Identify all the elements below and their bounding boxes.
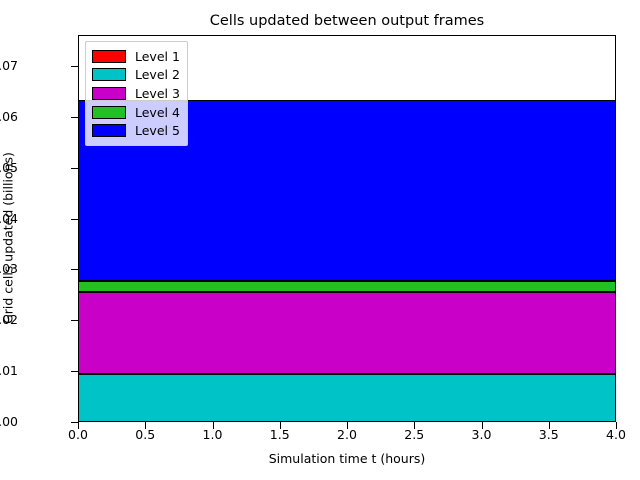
x-tick-mark xyxy=(213,422,214,429)
y-tick-mark xyxy=(71,66,78,67)
x-tick-mark xyxy=(616,422,617,429)
chart-title: Cells updated between output frames xyxy=(78,10,616,32)
legend[interactable]: Level 1Level 2Level 3Level 4Level 5 xyxy=(85,41,188,146)
y-tick-label: 0.04 xyxy=(0,211,18,227)
x-tick-mark xyxy=(145,422,146,429)
legend-item-level-1[interactable]: Level 1 xyxy=(92,47,180,66)
legend-swatch-icon xyxy=(92,106,126,119)
legend-swatch-icon xyxy=(92,124,126,137)
legend-swatch-icon xyxy=(92,87,126,100)
legend-swatch-icon xyxy=(92,50,126,63)
legend-label: Level 2 xyxy=(135,67,180,82)
y-tick-mark xyxy=(71,219,78,220)
legend-label: Level 1 xyxy=(135,49,180,64)
legend-label: Level 4 xyxy=(135,105,180,120)
y-tick-mark xyxy=(71,422,78,423)
y-tick-label: 0.00 xyxy=(0,414,18,430)
y-tick-label: 0.07 xyxy=(0,58,18,74)
x-tick-mark xyxy=(414,422,415,429)
x-tick-label: 3.5 xyxy=(519,427,579,442)
x-tick-label: 3.0 xyxy=(452,427,512,442)
x-tick-mark xyxy=(78,422,79,429)
area-band-level-2 xyxy=(78,374,616,422)
x-tick-mark xyxy=(347,422,348,429)
legend-item-level-2[interactable]: Level 2 xyxy=(92,66,180,85)
y-tick-label: 0.02 xyxy=(0,312,18,328)
legend-label: Level 5 xyxy=(135,123,180,138)
x-tick-label: 2.5 xyxy=(384,427,444,442)
y-tick-mark xyxy=(71,269,78,270)
legend-label: Level 3 xyxy=(135,86,180,101)
x-tick-label: 1.0 xyxy=(183,427,243,442)
x-tick-mark xyxy=(280,422,281,429)
legend-swatch-icon xyxy=(92,68,126,81)
y-tick-mark xyxy=(71,168,78,169)
area-band-level-4 xyxy=(78,281,616,292)
y-tick-label: 0.05 xyxy=(0,160,18,176)
x-tick-label: 4.0 xyxy=(586,427,640,442)
x-tick-label: 0.5 xyxy=(115,427,175,442)
legend-item-level-4[interactable]: Level 4 xyxy=(92,103,180,122)
x-tick-mark xyxy=(482,422,483,429)
y-tick-label: 0.06 xyxy=(0,109,18,125)
y-tick-mark xyxy=(71,117,78,118)
x-tick-mark xyxy=(549,422,550,429)
y-tick-mark xyxy=(71,320,78,321)
y-tick-mark xyxy=(71,371,78,372)
x-axis-label: Simulation time t (hours) xyxy=(78,451,616,469)
y-tick-label: 0.01 xyxy=(0,363,18,379)
legend-item-level-3[interactable]: Level 3 xyxy=(92,84,180,103)
legend-item-level-5[interactable]: Level 5 xyxy=(92,121,180,140)
area-band-level-3 xyxy=(78,292,616,374)
figure-canvas: Cells updated between output frames Grid… xyxy=(0,0,640,480)
x-tick-label: 2.0 xyxy=(317,427,377,442)
x-tick-label: 1.5 xyxy=(250,427,310,442)
y-tick-label: 0.03 xyxy=(0,261,18,277)
x-tick-label: 0.0 xyxy=(48,427,108,442)
